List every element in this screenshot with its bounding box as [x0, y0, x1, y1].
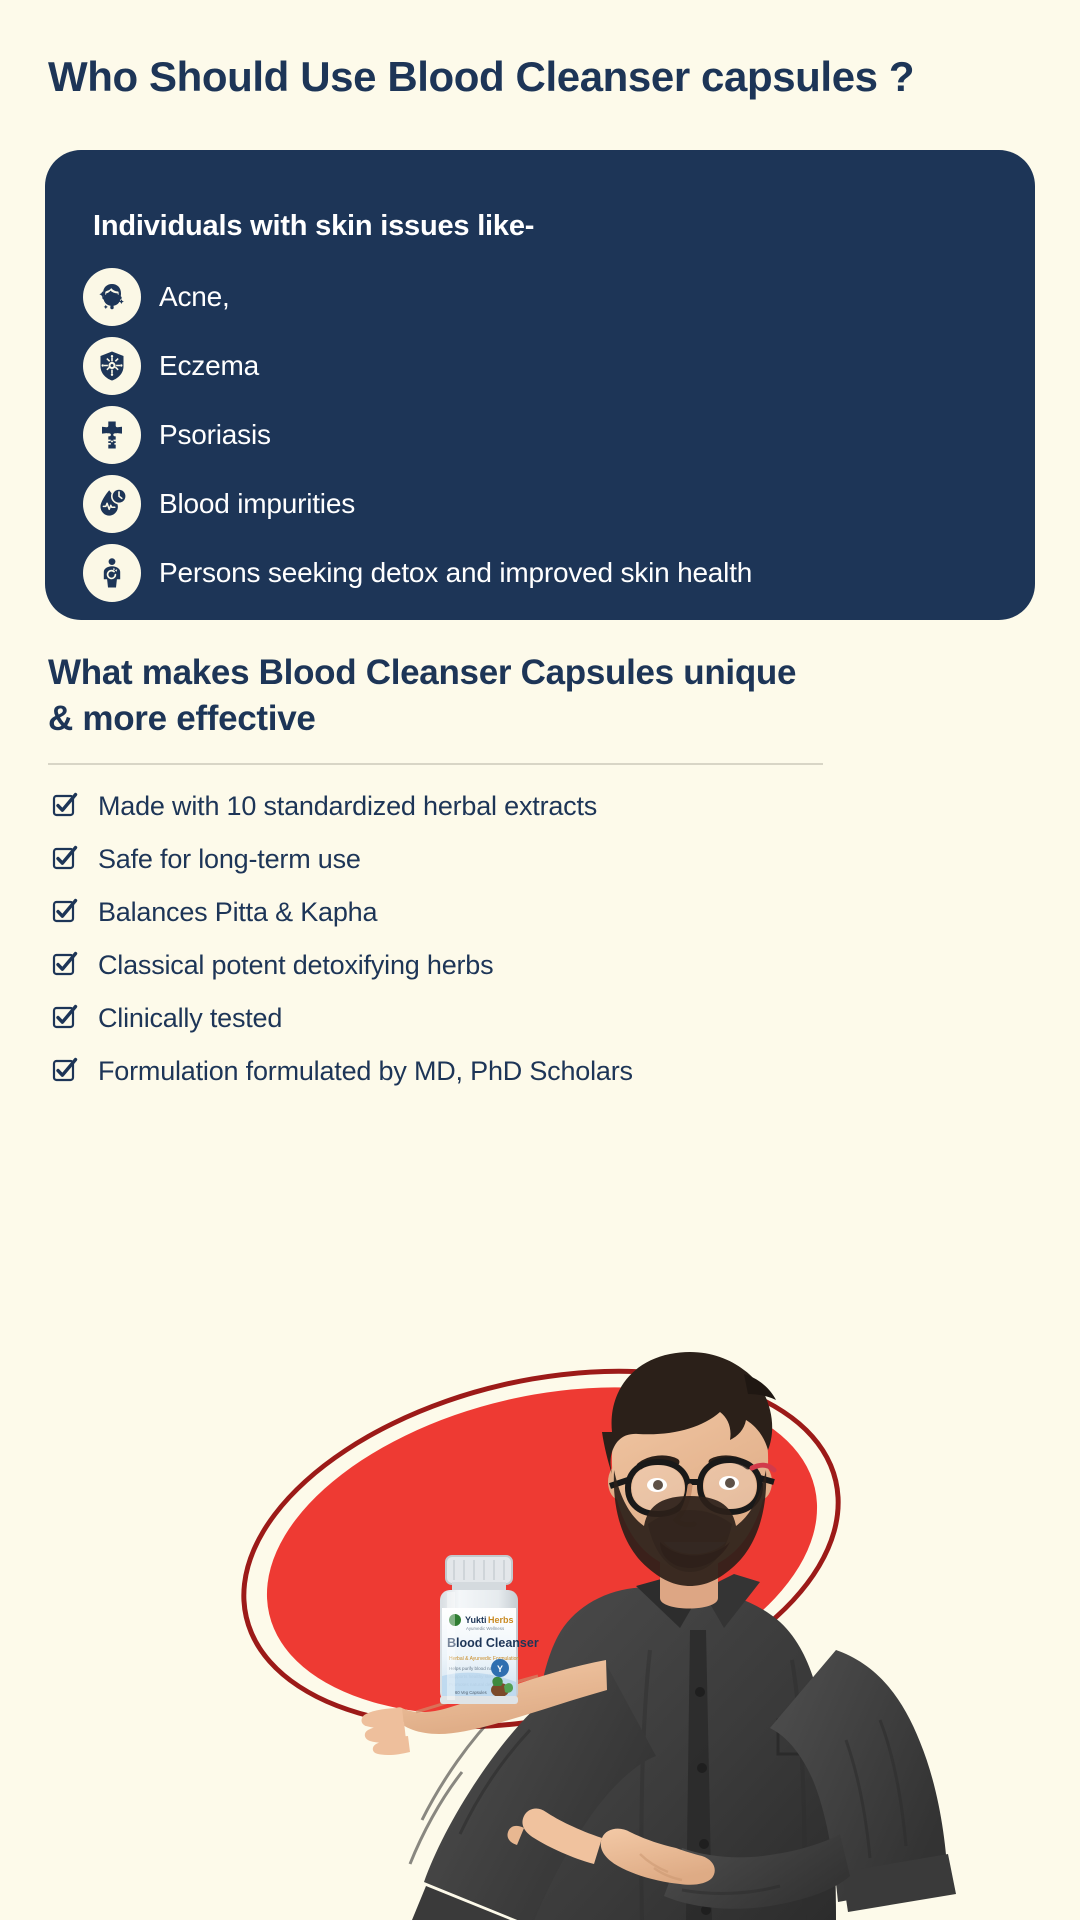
checkbox-checked-icon — [48, 790, 82, 824]
list-item: Classical potent detoxifying herbs — [48, 939, 948, 992]
checkbox-checked-icon — [48, 843, 82, 877]
list-item: Acne, — [83, 262, 1005, 331]
list-item: Blood impurities — [83, 469, 1005, 538]
list-item-label: Blood impurities — [159, 488, 355, 520]
detox-person-icon — [83, 544, 141, 602]
page-title-strong: Blood Cleanser capsules — [387, 53, 877, 100]
page-title-plain: Who Should Use — [48, 53, 387, 100]
product-bottle: Yukti Herbs Ayurvedic Wellness Blood Cle… — [440, 1556, 539, 1704]
section-divider — [48, 763, 823, 765]
feature-list: Made with 10 standardized herbal extract… — [48, 780, 948, 1098]
section-title-line1: What makes Blood Cleanser Capsules uniqu… — [48, 653, 796, 692]
head — [602, 1352, 776, 1609]
psoriasis-skin-icon — [83, 406, 141, 464]
list-item: Safe for long-term use — [48, 833, 948, 886]
section-title-line2: & more effective — [48, 699, 316, 738]
list-item-label: Made with 10 standardized herbal extract… — [98, 791, 597, 822]
svg-text:60 Veg Capsules: 60 Veg Capsules — [455, 1690, 487, 1695]
checkbox-checked-icon — [48, 1002, 82, 1036]
poster-page: Who Should Use Blood Cleanser capsules ?… — [0, 0, 1080, 1920]
list-item-label: Persons seeking detox and improved skin … — [159, 557, 752, 589]
blood-drop-icon — [83, 475, 141, 533]
svg-text:Herbs: Herbs — [488, 1615, 514, 1625]
list-item-label: Classical potent detoxifying herbs — [98, 950, 493, 981]
list-item: Persons seeking detox and improved skin … — [83, 538, 1005, 607]
list-item: Formulation formulated by MD, PhD Schola… — [48, 1045, 948, 1098]
skin-issues-list: Acne, — [83, 262, 1005, 607]
checkbox-checked-icon — [48, 1055, 82, 1089]
checkbox-checked-icon — [48, 896, 82, 930]
list-item: Balances Pitta & Kapha — [48, 886, 948, 939]
skin-issues-card: Individuals with skin issues like- Ac — [45, 150, 1035, 620]
hero-image-area: Yukti Herbs Ayurvedic Wellness Blood Cle… — [0, 1320, 1080, 1920]
list-item: Made with 10 standardized herbal extract… — [48, 780, 948, 833]
list-item-label: Clinically tested — [98, 1003, 282, 1034]
list-item-label: Formulation formulated by MD, PhD Schola… — [98, 1056, 633, 1087]
list-item-label: Eczema — [159, 350, 259, 382]
man-holding-product-illustration: Yukti Herbs Ayurvedic Wellness Blood Cle… — [0, 1320, 1080, 1920]
bottle-product-name: Blood Cleanser — [447, 1636, 539, 1650]
checkbox-checked-icon — [48, 949, 82, 983]
list-item-label: Safe for long-term use — [98, 844, 361, 875]
eczema-shield-icon — [83, 337, 141, 395]
svg-text:Ayurvedic Wellness: Ayurvedic Wellness — [466, 1626, 505, 1631]
list-item-label: Balances Pitta & Kapha — [98, 897, 377, 928]
list-item: Clinically tested — [48, 992, 948, 1045]
card-subtitle: Individuals with skin issues like- — [93, 210, 534, 243]
svg-text:Y: Y — [497, 1664, 503, 1674]
list-item-label: Acne, — [159, 281, 230, 313]
page-title: Who Should Use Blood Cleanser capsules ? — [48, 52, 914, 102]
list-item: Psoriasis — [83, 400, 1005, 469]
acne-face-icon — [83, 268, 141, 326]
list-item-label: Psoriasis — [159, 419, 271, 451]
section-title: What makes Blood Cleanser Capsules uniqu… — [48, 650, 868, 742]
page-title-suffix: ? — [878, 53, 915, 100]
list-item: Eczema — [83, 331, 1005, 400]
svg-text:Herbal & Ayurvedic Formulation: Herbal & Ayurvedic Formulation — [449, 1656, 519, 1662]
bottle-brand-text: Yukti — [465, 1615, 487, 1625]
